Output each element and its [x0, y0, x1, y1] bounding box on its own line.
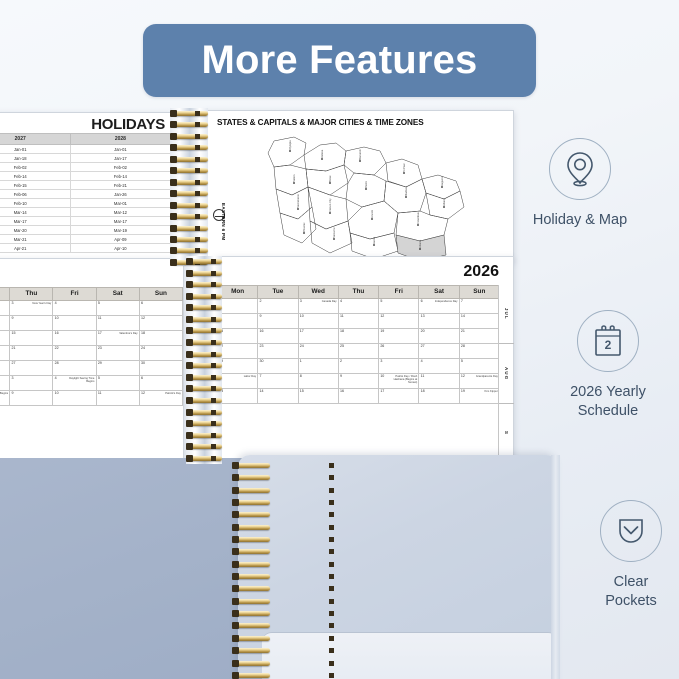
spiral-ring [170, 121, 210, 128]
calendar-event-label: Independence Day [435, 300, 458, 303]
spiral-ring [170, 156, 210, 163]
calendar-day-cell[interactable]: 8 [298, 373, 338, 388]
spiral-ring [170, 110, 210, 117]
svg-text:Austin: Austin [372, 236, 376, 244]
holidays-row: Mar-17Mar-17 [0, 217, 171, 226]
svg-text:Bismarck: Bismarck [358, 149, 362, 160]
calendar-day-cell[interactable]: 12Patrick's Day [139, 390, 182, 405]
top-spiral-binding [170, 110, 210, 266]
calendar-page-right: 2026 MonTueWedThuFriSatSun 123Canada Day… [216, 256, 514, 464]
spiral-ring [186, 281, 224, 288]
holidays-cell: Feb-02 [0, 163, 70, 172]
holidays-cell: Jan-26 [70, 190, 170, 199]
calendar-event-label: Patriot Day / Rosh Hashana (Begins at Su… [386, 375, 417, 384]
calendar-day-cell[interactable]: 24 [139, 345, 182, 360]
feature-yearly-schedule-label: 2026 YearlySchedule [570, 383, 646, 421]
map-pin-icon [563, 150, 597, 188]
calendar-day-cell[interactable]: 15 [298, 388, 338, 403]
spiral-ring [170, 144, 210, 151]
calendar-event-label: New Year's Day [32, 302, 51, 305]
planner-back-cover [0, 458, 260, 679]
pocket-icon [613, 514, 649, 548]
holidays-cell: Jan-18 [0, 154, 70, 163]
calendar-day-cell[interactable]: 14 [258, 388, 298, 403]
calendar-weekday-wed: Wed [0, 288, 10, 301]
calendar-weekday-thu: Thu [10, 288, 53, 301]
calendar-day-cell[interactable]: 19 [379, 328, 419, 343]
holidays-cell: Feb-06 [0, 190, 70, 199]
svg-text:Phoenix: Phoenix [302, 222, 306, 232]
spiral-ring [186, 327, 224, 334]
calendar-day-cell[interactable]: 8 [0, 315, 10, 330]
holidays-cell: Mar-17 [0, 217, 70, 226]
calendar-day-cell[interactable]: 3Canada Day [298, 298, 338, 313]
calendar-day-cell[interactable]: 27 [419, 343, 459, 358]
calendar-day-cell[interactable]: 6 [139, 300, 182, 315]
calendar-day-cell[interactable]: 16 [338, 388, 378, 403]
calendar-week-row: 293012345 [218, 358, 500, 373]
svg-text:Salem: Salem [292, 175, 296, 182]
pocket-icon-circle [600, 500, 662, 562]
spiral-ring [170, 213, 210, 220]
spiral-ring [232, 548, 272, 555]
spiral-ring [232, 487, 272, 494]
feature-holiday-map: Holiday & Map [505, 138, 655, 230]
svg-text:Sacramento: Sacramento [296, 193, 300, 208]
svg-text:Columbus: Columbus [416, 212, 420, 224]
calendar-icon-number: 2 [605, 338, 612, 352]
calendar-day-cell[interactable]: 9 [338, 373, 378, 388]
calendar-day-cell[interactable]: 14 [0, 330, 10, 345]
feature-clear-pockets-label: ClearPockets [605, 573, 657, 611]
calendar-day-cell[interactable]: 23 [96, 345, 139, 360]
calendar-day-cell[interactable]: 5 [379, 298, 419, 313]
feature-clear-pockets: ClearPockets [556, 500, 679, 611]
spiral-ring [186, 420, 224, 427]
spiral-ring [232, 561, 272, 568]
holidays-cell: Feb-10 [0, 199, 70, 208]
calendar-day-cell[interactable]: 10 [298, 313, 338, 328]
calendar-day-cell[interactable]: 24 [298, 343, 338, 358]
holidays-row: Feb-02Feb-02 [0, 163, 171, 172]
spiral-ring [232, 462, 272, 469]
holidays-cell: Apr-10 [70, 244, 170, 253]
calendar-day-cell[interactable]: 7 [459, 298, 499, 313]
holidays-cell: Mar-14 [0, 208, 70, 217]
holidays-page-title: HOLIDAYS [91, 116, 165, 133]
calendar-right-grid: MonTueWedThuFriSatSun 123Canada Day456In… [217, 285, 500, 404]
spiral-ring [232, 511, 272, 518]
holidays-cell: Feb-02 [70, 163, 170, 172]
svg-text:Albany: Albany [442, 197, 446, 206]
calendar-day-cell[interactable]: 17 [298, 328, 338, 343]
usa-map-illustration: Olympia Helena Bismarck St Paul Augusta … [260, 125, 472, 261]
calendar-day-cell[interactable]: 26 [379, 343, 419, 358]
planner-spiral-binding [232, 462, 272, 679]
spiral-ring [186, 397, 224, 404]
spiral-ring [186, 374, 224, 381]
calendar-day-cell[interactable]: 1 [298, 358, 338, 373]
holidays-cell: Mar-12 [70, 208, 170, 217]
holidays-row: Jan-18Jan-17 [0, 154, 171, 163]
timezone-label: EASTERN 6 PM [221, 203, 226, 241]
spiral-ring [186, 351, 224, 358]
holidays-row: Feb-14Feb-14 [0, 172, 171, 181]
holidays-row: Feb-10Mar-01 [0, 199, 171, 208]
spiral-ring [186, 304, 224, 311]
calendar-week-row: 22232425262728 [218, 343, 500, 358]
calendar-day-cell[interactable]: 10 [53, 390, 96, 405]
month-tab-aug[interactable]: AUG [499, 344, 514, 403]
calendar-event-label: Labor Day [244, 375, 256, 378]
calendar-day-cell[interactable]: 5 [96, 375, 139, 390]
calendar-day-cell[interactable]: 16 [53, 330, 96, 345]
calendar-weekday-sat: Sat [419, 286, 459, 299]
holidays-row: Mar-20Mar-19 [0, 226, 171, 235]
spiral-ring [186, 339, 224, 346]
holidays-cell: Jan-01 [0, 145, 70, 154]
calendar-weekday-thu: Thu [338, 286, 378, 299]
calendar-day-cell[interactable]: 22 [53, 345, 96, 360]
calendar-day-cell[interactable]: 6Independence Day [419, 298, 459, 313]
calendar-day-cell[interactable]: 20 [419, 328, 459, 343]
svg-text:Madison: Madison [404, 186, 408, 196]
calendar-week-row: 13141516171819Yom Kippur [218, 388, 500, 403]
spiral-ring [232, 610, 272, 617]
holidays-row: Apr-21Apr-10 [0, 244, 171, 253]
calendar-week-row: 15161718192021 [218, 328, 500, 343]
holidays-cell: Feb-14 [0, 172, 70, 181]
calendar-day-cell[interactable]: 11 [419, 373, 459, 388]
product-feature-graphic: HOLIDAYS 20272028 Jan-01Jan-01Jan-18Jan-… [0, 0, 679, 679]
holidays-row: Mar-14Mar-12 [0, 208, 171, 217]
calendar-day-cell[interactable]: 9 [258, 313, 298, 328]
spiral-ring [232, 660, 272, 667]
calendar-day-cell[interactable]: 7 [258, 373, 298, 388]
calendar-day-cell[interactable]: 19Yom Kippur [459, 388, 499, 403]
calendar-event-label: Valentine's Day [119, 332, 137, 335]
calendar-day-cell[interactable]: 15 [10, 330, 53, 345]
calendar-event-label: Grandparents Day [476, 375, 498, 378]
calendar-day-cell[interactable]: 5 [459, 358, 499, 373]
holidays-cell: Mar-19 [70, 226, 170, 235]
calendar-week-row: 78Spring Begins9101112Patrick's Day [0, 390, 183, 405]
holidays-table-body: Jan-01Jan-01Jan-18Jan-17Feb-02Feb-02Feb-… [0, 145, 171, 253]
calendar-week-row: 1314151617Valentine's Day18 [0, 330, 183, 345]
calendar-weekday-sun: Sun [459, 286, 499, 299]
holidays-cell: Jan-01 [70, 145, 170, 154]
holidays-row: Feb-15Feb-21 [0, 181, 171, 190]
calendar-day-cell[interactable]: 17 [379, 388, 419, 403]
calendar-day-cell[interactable]: 12 [379, 313, 419, 328]
spiral-ring [170, 179, 210, 186]
spiral-ring [232, 622, 272, 629]
calendar-week-row: 25Ash Wednesday2627282930 [0, 360, 183, 375]
spiral-ring [232, 499, 272, 506]
calendar-left-weekday-row: ueWedThuFriSatSun [0, 288, 183, 301]
calendar-day-cell[interactable]: 14 [459, 313, 499, 328]
holidays-col-header-1: 2027 [0, 134, 70, 145]
calendar-weekday-fri: Fri [379, 286, 419, 299]
calendar-weekday-tue: Tue [258, 286, 298, 299]
calendar-icon-circle: 2 [577, 310, 639, 372]
calendar-day-cell[interactable]: 4 [53, 300, 96, 315]
holidays-cell: Apr-21 [0, 244, 70, 253]
calendar-day-cell[interactable]: 20 [0, 345, 10, 360]
calendar-page-left: ueWedThuFriSatSun 123New Year's Day45678… [0, 258, 184, 464]
spiral-ring [186, 258, 224, 265]
calendar-day-cell[interactable]: 25 [338, 343, 378, 358]
calendar-day-cell[interactable]: 13 [419, 313, 459, 328]
month-tab-column: JULAUGS [498, 285, 513, 463]
spiral-ring [232, 672, 272, 679]
svg-text:Pierre: Pierre [364, 181, 368, 188]
spiral-ring [170, 167, 210, 174]
holidays-row: Jan-01Jan-01 [0, 145, 171, 154]
calendar-week-row: 192021222324 [0, 345, 183, 360]
spiral-ring [170, 190, 210, 197]
spiral-ring [170, 247, 210, 254]
spiral-ring [232, 524, 272, 531]
holidays-cell: Feb-21 [70, 181, 170, 190]
calendar-day-cell[interactable]: 3New Year's Day [10, 300, 53, 315]
spiral-ring [232, 536, 272, 543]
spiral-ring [232, 585, 272, 592]
title-banner: More Features [143, 24, 536, 97]
spiral-ring [186, 409, 224, 416]
calendar-weekday-fri: Fri [53, 288, 96, 301]
calendar-week-row: 1234Daylight Saving Time Begins56 [0, 375, 183, 390]
calendar-week-row: 6Labor Day78910Patriot Day / Rosh Hashan… [218, 373, 500, 388]
calendar-event-label: Spring Begins [0, 392, 8, 395]
svg-text:Atlanta: Atlanta [418, 239, 422, 248]
calendar-day-cell[interactable]: 16 [258, 328, 298, 343]
spiral-ring [186, 455, 224, 462]
feature-holiday-map-label: Holiday & Map [533, 211, 627, 230]
calendar-day-cell[interactable]: 29 [96, 360, 139, 375]
svg-text:St Paul: St Paul [402, 163, 406, 172]
title-banner-text: More Features [201, 38, 477, 83]
calendar-day-cell[interactable]: 30 [258, 358, 298, 373]
spiral-ring [186, 293, 224, 300]
holidays-cell: Apr-09 [70, 235, 170, 244]
clear-pocket-flap [262, 632, 558, 679]
svg-text:Augusta: Augusta [440, 176, 444, 186]
spiral-ring [232, 647, 272, 654]
spiral-ring [186, 385, 224, 392]
calendar-day-cell[interactable]: 4 [338, 298, 378, 313]
svg-text:Lincoln: Lincoln [370, 209, 374, 218]
holidays-cell: Mar-20 [0, 226, 70, 235]
calendar-day-cell[interactable]: 4Daylight Saving Time Begins [53, 375, 96, 390]
calendar-left-grid: ueWedThuFriSatSun 123New Year's Day45678… [0, 287, 183, 406]
calendar-day-cell[interactable]: 3 [10, 375, 53, 390]
holidays-cell: Mar-17 [70, 217, 170, 226]
spiral-ring [186, 316, 224, 323]
feature-yearly-schedule: 2 2026 YearlySchedule [533, 310, 679, 421]
calendar-day-cell[interactable]: 18 [139, 330, 182, 345]
spiral-ring [186, 443, 224, 450]
holidays-cell: Feb-15 [0, 181, 70, 190]
calendar-day-cell[interactable]: 2 [258, 298, 298, 313]
calendar-day-cell[interactable]: 17Valentine's Day [96, 330, 139, 345]
map-pin-icon-circle [549, 138, 611, 200]
holidays-table: 20272028 Jan-01Jan-01Jan-18Jan-17Feb-02F… [0, 133, 171, 253]
holidays-row: Mar-21Apr-09 [0, 235, 171, 244]
spiral-ring [186, 432, 224, 439]
calendar-day-cell[interactable]: 10Patriot Day / Rosh Hashana (Begins at … [379, 373, 419, 388]
calendar-day-cell[interactable]: 21 [459, 328, 499, 343]
calendar-day-cell[interactable]: 9 [10, 315, 53, 330]
spiral-ring [232, 598, 272, 605]
calendar-day-cell[interactable]: 23 [258, 343, 298, 358]
map-page: STATES & CAPITALS & MAJOR CITIES & TIME … [204, 110, 514, 262]
calendar-week-row: 123New Year's Day456 [0, 300, 183, 315]
calendar-day-cell[interactable]: 18 [338, 328, 378, 343]
calendar-day-cell[interactable]: 26 [0, 360, 10, 375]
holidays-page: HOLIDAYS 20272028 Jan-01Jan-01Jan-18Jan-… [0, 112, 172, 260]
calendar-event-label: Patrick's Day [165, 392, 181, 395]
calendar-week-row: 891011121314 [218, 313, 500, 328]
calendar-weekday-wed: Wed [298, 286, 338, 299]
calendar-event-label: Yom Kippur [484, 390, 498, 393]
calendar-day-cell[interactable]: 18 [419, 388, 459, 403]
calendar-day-cell[interactable]: 12Grandparents Day [459, 373, 499, 388]
calendar-icon: 2 [591, 323, 625, 359]
calendar-day-cell[interactable]: 2 [338, 358, 378, 373]
calendar-right-weekday-row: MonTueWedThuFriSatSun [218, 286, 500, 299]
calendar-day-cell[interactable]: 11 [96, 390, 139, 405]
spiral-ring [232, 635, 272, 642]
calendar-day-cell[interactable]: 11 [338, 313, 378, 328]
calendar-day-cell[interactable]: 9 [10, 390, 53, 405]
spiral-ring [170, 236, 210, 243]
calendar-week-row: 123Canada Day456Independence Day7 [218, 298, 500, 313]
calendar-day-cell[interactable]: 12 [139, 315, 182, 330]
calendar-day-cell[interactable]: 11 [96, 315, 139, 330]
holidays-row: Feb-06Jan-26 [0, 190, 171, 199]
calendar-day-cell[interactable]: 3 [379, 358, 419, 373]
svg-text:Carson City: Carson City [328, 198, 332, 212]
calendar-event-label: Daylight Saving Time Begins [61, 377, 95, 383]
calendar-day-cell[interactable]: 5 [96, 300, 139, 315]
holidays-cell: Mar-01 [70, 199, 170, 208]
svg-text:Helena: Helena [320, 149, 324, 158]
calendar-weekday-sat: Sat [96, 288, 139, 301]
calendar-day-cell[interactable]: 30 [139, 360, 182, 375]
calendar-spiral-binding [186, 258, 224, 462]
spiral-ring [170, 202, 210, 209]
calendar-day-cell[interactable]: 4 [419, 358, 459, 373]
holidays-table-header-row: 20272028 [0, 134, 171, 145]
calendar-day-cell[interactable]: 28 [459, 343, 499, 358]
holidays-col-header-2: 2028 [70, 134, 170, 145]
spiral-ring [232, 573, 272, 580]
calendar-day-cell[interactable]: 21 [10, 345, 53, 360]
svg-text:Boise: Boise [328, 175, 332, 182]
spiral-ring [170, 133, 210, 140]
calendar-day-cell[interactable]: 2 [0, 375, 10, 390]
month-tab-jul[interactable]: JUL [499, 285, 514, 344]
spiral-ring [186, 270, 224, 277]
calendar-week-row: 789101112 [0, 315, 183, 330]
spiral-ring [170, 225, 210, 232]
calendar-day-cell[interactable]: 8Spring Begins [0, 390, 10, 405]
spiral-ring [186, 362, 224, 369]
calendar-day-cell[interactable]: 2 [0, 300, 10, 315]
holidays-cell: Feb-14 [70, 172, 170, 181]
calendar-day-cell[interactable]: 28 [53, 360, 96, 375]
holidays-cell: Jan-17 [70, 154, 170, 163]
calendar-weekday-sun: Sun [139, 288, 182, 301]
calendar-day-cell[interactable]: 6 [139, 375, 182, 390]
calendar-day-cell[interactable]: 27 [10, 360, 53, 375]
holidays-cell: Mar-21 [0, 235, 70, 244]
spiral-ring [232, 474, 272, 481]
calendar-day-cell[interactable]: 10 [53, 315, 96, 330]
calendar-event-label: Canada Day [322, 300, 337, 303]
svg-text:Olympia: Olympia [288, 140, 292, 150]
calendar-year-label: 2026 [463, 263, 499, 281]
svg-text:Santa Fe: Santa Fe [332, 227, 336, 238]
